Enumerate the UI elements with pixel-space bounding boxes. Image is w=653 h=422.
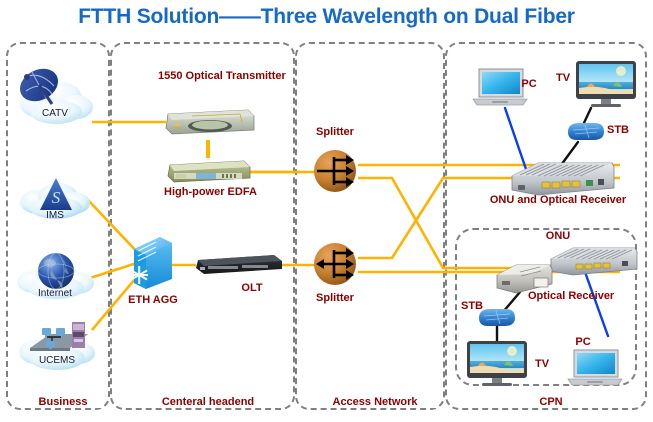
set-top-box-icon [565, 120, 607, 144]
node-onu-lower[interactable] [548, 244, 640, 280]
switch-icon [132, 235, 174, 291]
zone-label-central-headend: Centeral headend [145, 396, 271, 408]
node-eth-agg-label: ETH AGG [116, 294, 190, 307]
node-splitter-bottom[interactable] [312, 241, 358, 287]
zone-label-access-network: Access Network [314, 396, 436, 408]
splitter-icon [312, 148, 358, 194]
node-olt-label: OLT [232, 282, 272, 295]
rack-unit-icon [164, 104, 256, 138]
node-eth-agg[interactable] [132, 235, 174, 291]
splitter-icon [312, 241, 358, 287]
page-title: FTTH Solution——Three Wavelength on Dual … [0, 5, 653, 29]
tv-icon [466, 340, 528, 388]
node-tv-upper-label: TV [551, 72, 575, 85]
globe-icon [38, 253, 74, 289]
node-stb-upper-label: STB [604, 124, 632, 137]
svg-text:S: S [52, 188, 61, 207]
node-internet-label: Internet [20, 288, 90, 299]
zone-central-headend [110, 42, 295, 410]
node-pc-lower[interactable] [565, 348, 623, 390]
node-olt[interactable] [194, 252, 284, 278]
node-stb-lower-label: STB [458, 300, 486, 313]
node-ucems-label: UCEMS [20, 355, 94, 366]
node-tv-lower[interactable] [466, 340, 528, 388]
node-optical-transmitter[interactable] [164, 104, 256, 138]
node-optical-receiver-lower-label: Optical Receiver [528, 288, 592, 304]
tv-icon [575, 60, 637, 110]
zone-label-cpn: CPN [516, 396, 586, 408]
node-edfa-label: High-power EDFA [164, 186, 256, 199]
workstation-server-icon [30, 322, 88, 351]
node-splitter-top[interactable] [312, 148, 358, 194]
node-optical-transmitter-label: 1550 Optical Transmitter [158, 70, 258, 83]
node-edfa[interactable] [166, 156, 252, 186]
rack-chassis-icon [194, 252, 284, 278]
zone-access-network [295, 42, 445, 410]
node-ims-label: IMS [26, 210, 84, 221]
node-pc-upper-label: PC [516, 78, 542, 91]
node-tv-upper[interactable] [575, 60, 637, 110]
node-stb-upper[interactable] [565, 120, 607, 144]
node-onu-lower-label: ONU [540, 230, 576, 243]
node-splitter-bottom-label: Splitter [304, 292, 366, 305]
node-catv-label: CATV [26, 108, 84, 119]
zone-label-business: Business [22, 396, 104, 408]
node-onu-upper-label: ONU and Optical Receiver [468, 194, 648, 207]
onu-router-icon [548, 244, 640, 280]
laptop-icon [565, 348, 623, 390]
node-tv-lower-label: TV [530, 358, 554, 371]
rack-unit-icon [166, 156, 252, 186]
node-splitter-top-label: Splitter [304, 126, 366, 139]
